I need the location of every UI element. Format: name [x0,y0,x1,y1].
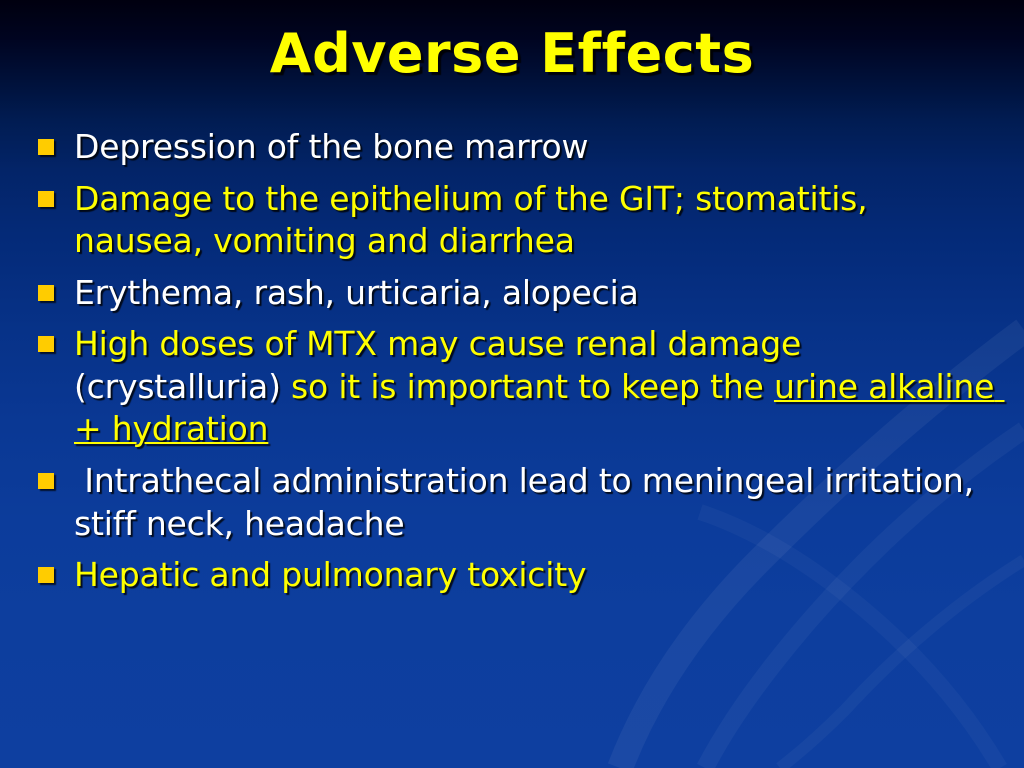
bullet-text: Erythema, rash, urticaria, alopecia [74,272,1000,315]
bullet-text: Depression of the bone marrow [74,126,1000,169]
bullet-text-run: Erythema, rash, urticaria, alopecia [74,273,639,312]
bullet-item-skin-reactions: Erythema, rash, urticaria, alopecia [24,272,1000,315]
square-bullet-marker [38,191,54,207]
bullet-item-bone-marrow: Depression of the bone marrow [24,126,1000,169]
bullet-item-git-damage: Damage to the epithelium of the GIT; sto… [24,178,1000,263]
bullet-text-run: Intrathecal administration lead to menin… [74,461,984,543]
square-bullet-marker [38,567,54,583]
slide-title: Adverse Effects [0,24,1024,83]
bullet-list: Depression of the bone marrowDamage to t… [24,126,1000,606]
square-bullet-marker [38,336,54,352]
bullet-item-renal-damage: High doses of MTX may cause renal damage… [24,323,1000,451]
bullet-text: High doses of MTX may cause renal damage… [74,323,1000,451]
bullet-text-run: (crystalluria) [74,367,281,406]
bullet-text-run: Damage to the epithelium of the GIT; sto… [74,179,878,261]
bullet-text-run: High doses of MTX may cause renal damage [74,324,811,363]
bullet-item-intrathecal: Intrathecal administration lead to menin… [24,460,1000,545]
bullet-text: Hepatic and pulmonary toxicity [74,554,1000,597]
bullet-text: Damage to the epithelium of the GIT; sto… [74,178,1000,263]
square-bullet-marker [38,139,54,155]
bullet-text: Intrathecal administration lead to menin… [74,460,1000,545]
square-bullet-marker [38,473,54,489]
presentation-slide: Adverse Effects Depression of the bone m… [0,0,1024,768]
bullet-item-hepatic-pulmonary: Hepatic and pulmonary toxicity [24,554,1000,597]
bullet-text-run: so it is important to keep the [281,367,774,406]
bullet-text-run: Depression of the bone marrow [74,127,588,166]
bullet-text-run: Hepatic and pulmonary toxicity [74,555,586,594]
square-bullet-marker [38,285,54,301]
